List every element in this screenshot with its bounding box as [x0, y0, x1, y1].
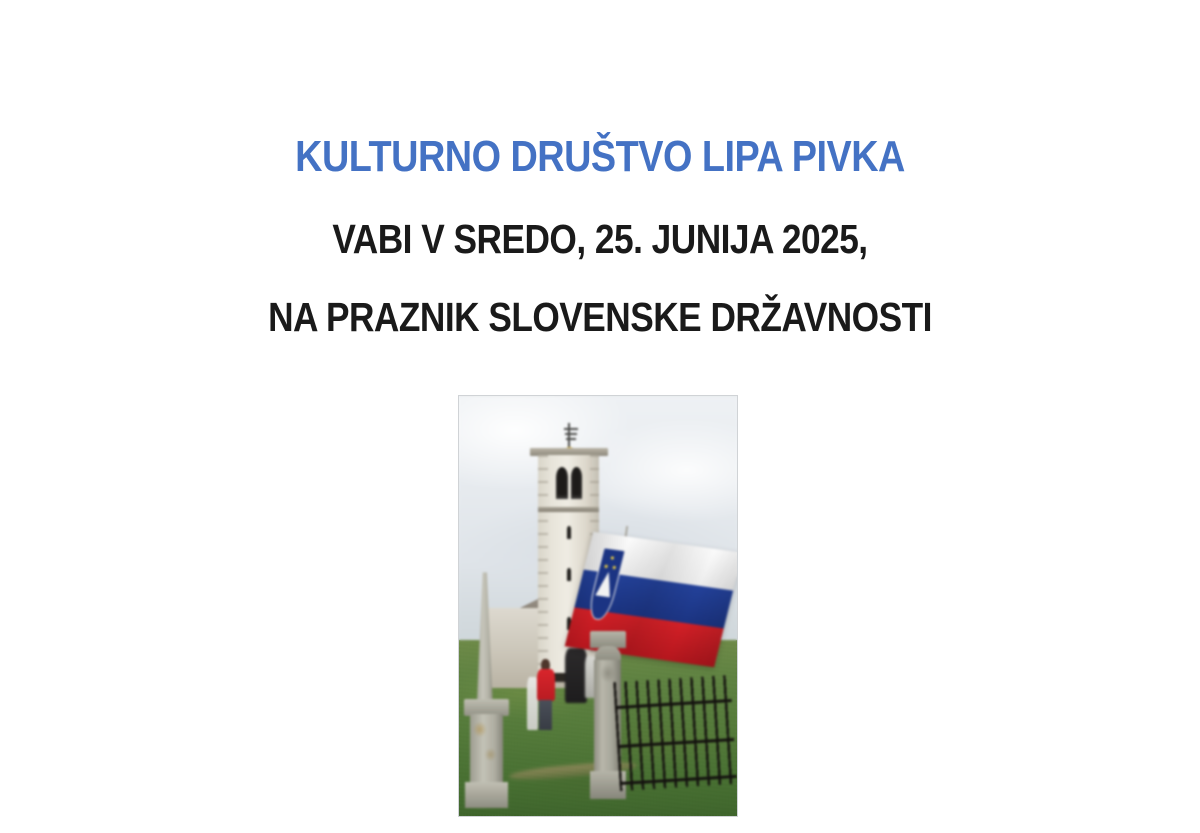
belfry-windows — [556, 467, 582, 499]
photo-frame — [459, 396, 737, 816]
wrought-iron-fence — [614, 675, 737, 791]
slide-canvas: KULTURNO DRUŠTVO LIPA PIVKA VABI V SREDO… — [0, 0, 1200, 833]
obelisk-base — [465, 782, 507, 808]
obelisk-shaft — [477, 572, 493, 704]
page-title: KULTURNO DRUŠTVO LIPA PIVKA — [84, 126, 1116, 188]
person-legs — [539, 700, 552, 730]
text-block: KULTURNO DRUŠTVO LIPA PIVKA VABI V SREDO… — [0, 0, 1200, 346]
tower-string-course — [538, 507, 599, 512]
church-photograph — [459, 396, 737, 816]
tower-window-slit — [567, 526, 571, 539]
tower-cross-icon — [568, 423, 570, 449]
person-in-red-jacket — [537, 659, 555, 730]
slovenian-coat-of-arms-icon — [585, 548, 625, 622]
obelisk-body — [470, 714, 503, 785]
subtitle-line-2: NA PRAZNIK SLOVENSKE DRŽAVNOSTI — [84, 288, 1116, 346]
red-jacket — [537, 669, 555, 701]
person-silhouette — [565, 648, 587, 703]
fence-bars — [614, 675, 737, 791]
stone-obelisk-monument — [463, 572, 516, 807]
subtitle-line-1: VABI V SREDO, 25. JUNIJA 2025, — [84, 210, 1116, 268]
tower-window-slit — [567, 568, 571, 581]
